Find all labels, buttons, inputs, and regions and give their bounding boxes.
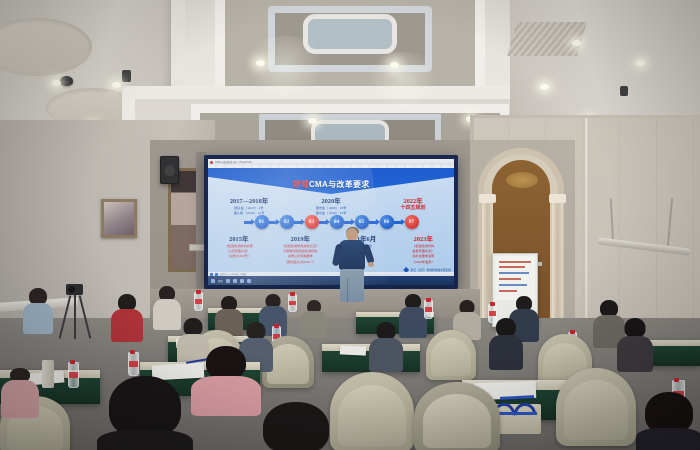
timeline-note: 国市监〔 2020〕 29号 [291, 206, 371, 210]
downlight [540, 84, 549, 90]
audience-person-foreground [248, 402, 344, 450]
water-bottle[interactable] [424, 300, 433, 319]
presenter-shirt [339, 240, 365, 270]
timeline-step-03[interactable]: 03 [305, 215, 319, 229]
column-capital [549, 194, 566, 203]
presenter-hand [368, 262, 374, 267]
timeline-note: 《检验检测机构资质认定》 [271, 244, 331, 248]
timeline-year: 2015年 [209, 234, 269, 243]
timeline-step-01[interactable]: 01 [255, 215, 269, 229]
audience-person [0, 368, 40, 418]
chair[interactable] [426, 330, 476, 380]
water-bottle[interactable] [68, 362, 79, 388]
timeline-note: 认定管理办法》 [209, 249, 269, 253]
framed-picture-small [101, 199, 137, 238]
arrow-icon [244, 219, 255, 226]
slide-title-main: CMA与改革要求 [309, 180, 370, 189]
arrow-icon [294, 219, 305, 226]
timeline-step-04[interactable]: 04 [330, 215, 344, 229]
ceiling-security-camera-icon [60, 76, 73, 86]
timeline-step-06[interactable]: 06 [380, 215, 394, 229]
column-capital [479, 194, 496, 203]
downlight [112, 82, 121, 88]
arrow-icon [344, 219, 355, 226]
chair[interactable] [556, 368, 636, 446]
conference-room-photo: CMA与改革要求.pptx - PowerPoint 领域CMA与改革要求 20… [0, 0, 700, 450]
powerpoint-title-text: CMA与改革要求.pptx - PowerPoint [215, 160, 252, 164]
slide-title: 领域CMA与改革要求 [208, 179, 454, 190]
water-bottle[interactable] [288, 294, 297, 312]
timeline-top-labels: 2017—2018年 国认监〔 2017〕 2号 国认规〔 2018〕 12号 … [208, 196, 454, 215]
downlight [636, 60, 645, 66]
timeline-note: 十四五规划 [373, 206, 453, 210]
screen-surface: CMA与改革要求.pptx - PowerPoint 领域CMA与改革要求 20… [208, 159, 454, 285]
audience-person [190, 346, 262, 412]
arrow-icon [394, 219, 405, 226]
presenter-trousers [340, 269, 364, 302]
audience-person [22, 288, 54, 334]
taskbar-app-icon[interactable] [226, 279, 230, 283]
water-bottle[interactable] [128, 352, 139, 376]
wall-speaker-left [160, 156, 179, 184]
timeline-top-item: 2017—2018年 国认监〔 2017〕 2号 国认规〔 2018〕 12号 [208, 196, 290, 215]
timeline-year: 2017—2018年 [209, 196, 289, 205]
timeline-steps: 01 02 03 04 05 06 07 [208, 214, 454, 230]
chair[interactable] [414, 382, 500, 450]
light-glow [362, 52, 442, 106]
slide-title-prefix: 领域 [292, 180, 309, 189]
flipchart-sheet [495, 256, 535, 300]
timeline-year: 2020年 [291, 196, 371, 205]
audience-person [616, 318, 654, 372]
timeline-note: 《检验检测机构 [394, 244, 454, 248]
arrow-icon [319, 219, 330, 226]
audience-person [110, 294, 144, 342]
timeline-note: 《检验检测机构资质 [209, 244, 269, 248]
timeline-step-02[interactable]: 02 [280, 215, 294, 229]
water-bottle[interactable] [194, 292, 203, 311]
timeline-note: （2023年发布） [394, 260, 454, 264]
audience-person-foreground [96, 376, 194, 450]
video-camera-on-tripod [58, 284, 92, 338]
timeline-bottom-item: 2019年 《检验检测机构资质认定》 评审准则和检验检测机构 资质认定特殊要求 … [270, 234, 332, 264]
timeline-year: 2023年 [394, 234, 454, 243]
door-ornament [506, 172, 538, 188]
timeline-top-item: 2020年 国市监〔 2020〕 29号 国市监〔 2020〕 41号 [290, 196, 372, 215]
slide-canvas: 领域CMA与改革要求 2017—2018年 国认监〔 2017〕 2号 国认规〔… [208, 168, 454, 276]
downlight [308, 118, 317, 124]
downlight [390, 62, 399, 68]
timeline-note: （国市监认对2019『） [271, 260, 331, 264]
arrow-icon [369, 219, 380, 226]
timeline-top-item: 2022年 十四五规划 [372, 196, 454, 215]
timeline-bottom-item: 2023年 《检验检测机构 监督管理办法》 和补充要求说明 （2023年发布） [393, 234, 455, 264]
taskbar-app-icon[interactable] [233, 279, 237, 283]
timeline-note: 评审准则和检验检测机构 [271, 249, 331, 253]
thermos-flask[interactable] [42, 360, 54, 388]
taskbar-search-text[interactable]: 搜索 [218, 279, 223, 283]
timeline-year: 2022年 [373, 196, 453, 205]
timeline-note: （总局令163号） [209, 254, 269, 258]
ceiling-security-camera-icon-2 [620, 86, 628, 96]
audience-person [488, 318, 524, 370]
windows-taskbar[interactable]: 搜索 [208, 276, 454, 285]
taskbar-app-icon[interactable] [240, 279, 244, 283]
timeline-year: 2019年 [271, 234, 331, 243]
audience-person-foreground [636, 392, 700, 450]
audience-person [300, 300, 328, 338]
air-vent-grille-right [507, 22, 587, 56]
timeline-step-05[interactable]: 05 [355, 215, 369, 229]
timeline-note: 国认监〔 2017〕 2号 [209, 206, 289, 210]
timeline-bottom-item: 2015年 《检验检测机构资质 认定管理办法》 （总局令163号） [208, 234, 270, 264]
timeline-note: 资质认定特殊要求 [271, 254, 331, 258]
video-camera-icon [66, 284, 83, 295]
taskbar-app-icon[interactable] [247, 279, 251, 283]
timeline-note: 和补充要求说明 [394, 254, 454, 258]
timeline-note: 监督管理办法》 [394, 249, 454, 253]
light-glow [240, 36, 330, 96]
downlight [256, 60, 265, 66]
app-dot-icon [210, 161, 213, 164]
downlight [52, 80, 61, 86]
ceiling-sensor-icon [122, 70, 131, 82]
projection-screen[interactable]: CMA与改革要求.pptx - PowerPoint 领域CMA与改革要求 20… [204, 155, 458, 289]
start-button-icon[interactable] [211, 279, 215, 283]
ceiling-ellipse-recess [0, 18, 92, 76]
timeline-step-07[interactable]: 07 [405, 215, 419, 229]
audience-person [368, 322, 404, 372]
arrow-icon [269, 219, 280, 226]
timeline-bottom-labels: 2015年 《检验检测机构资质 认定管理办法》 （总局令163号） 2019年 … [208, 234, 454, 264]
presenter [335, 228, 369, 302]
notebook[interactable] [340, 345, 366, 355]
downlight [572, 40, 581, 46]
